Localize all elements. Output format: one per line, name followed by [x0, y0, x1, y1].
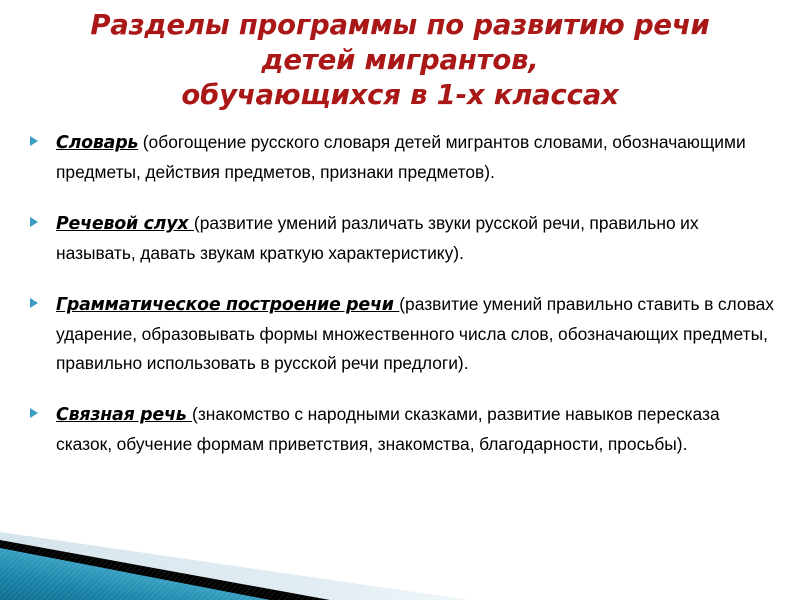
- bullet-text: Грамматическое построение речи (развитие…: [56, 290, 780, 378]
- bullet-text: Речевой слух (развитие умений различать …: [56, 209, 780, 268]
- list-item: Речевой слух (развитие умений различать …: [24, 209, 780, 268]
- bullet-lead-term: Речевой слух: [56, 214, 194, 234]
- diagonal-bands-svg: [0, 510, 800, 600]
- band-texture-overlay: [0, 510, 800, 600]
- bullet-text: Связная речь (знакомство с народными ска…: [56, 400, 780, 459]
- triangle-bullet-icon: [30, 217, 38, 227]
- list-item: Грамматическое построение речи (развитие…: [24, 290, 780, 378]
- list-item: Словарь (обогощение русского словаря дет…: [24, 128, 780, 187]
- triangle-bullet-icon: [30, 408, 38, 418]
- bullet-body-text: (обогощение русского словаря детей мигра…: [56, 132, 746, 182]
- black-band: [0, 540, 330, 600]
- bullet-lead-term: Словарь: [56, 133, 138, 153]
- bullet-lead-term: Связная речь: [56, 405, 192, 425]
- slide-canvas: Разделы программы по развитию речи детей…: [0, 0, 800, 600]
- bullet-text: Словарь (обогощение русского словаря дет…: [56, 128, 780, 187]
- triangle-bullet-icon: [30, 136, 38, 146]
- pale-blue-band: [0, 532, 470, 600]
- corner-decoration-graphic: [0, 510, 800, 600]
- teal-band: [0, 548, 270, 600]
- bullet-lead-term: Грамматическое построение речи: [56, 295, 399, 315]
- triangle-bullet-icon: [30, 298, 38, 308]
- list-item: Связная речь (знакомство с народными ска…: [24, 400, 780, 459]
- page-title: Разделы программы по развитию речи детей…: [40, 8, 760, 113]
- bullet-list: Словарь (обогощение русского словаря дет…: [24, 128, 780, 459]
